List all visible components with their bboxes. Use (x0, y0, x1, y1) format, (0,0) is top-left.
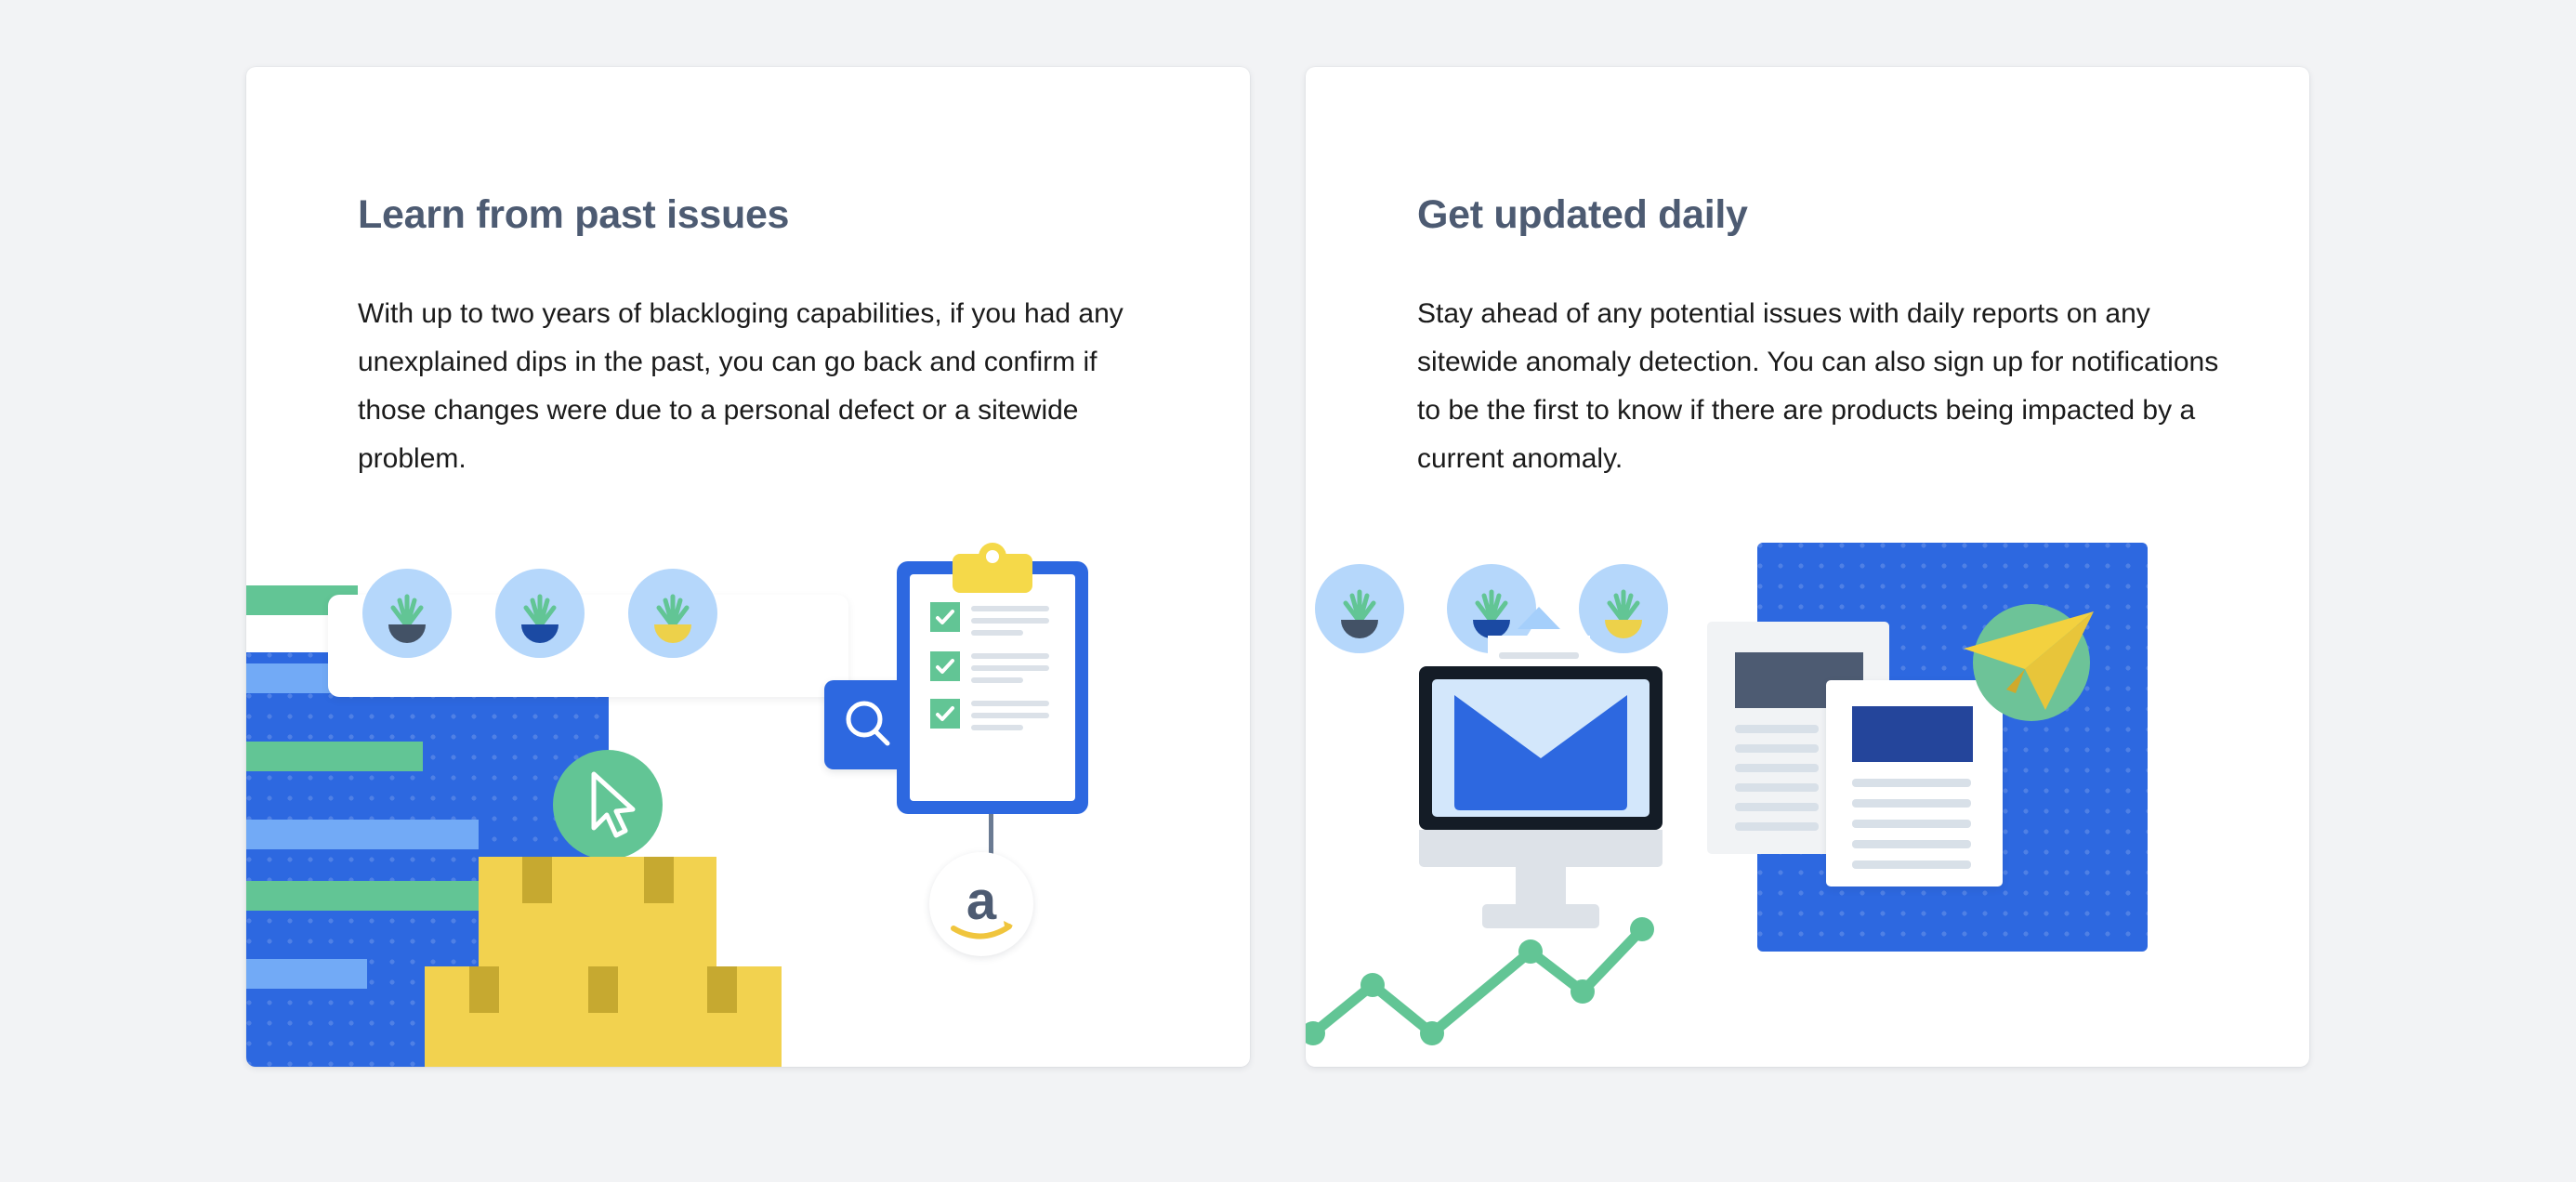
line-chart-marker (1630, 917, 1654, 941)
text-line (971, 677, 1023, 683)
text-line (971, 630, 1023, 636)
bar-chart-bar (246, 959, 367, 989)
page-title: Learn from past issues (358, 192, 789, 238)
box-tape (588, 966, 618, 1013)
box-tape (469, 966, 499, 1013)
text-line (1735, 822, 1819, 831)
text-line (1735, 725, 1819, 733)
plant-icon (1579, 564, 1668, 653)
plant-icon (628, 569, 717, 658)
text-line (971, 618, 1049, 624)
bar-chart-bar (246, 742, 423, 771)
plant-icon (362, 569, 452, 658)
check-icon (930, 651, 960, 681)
text-line (971, 606, 1049, 611)
text-line (971, 725, 1023, 730)
card-body-text: Stay ahead of any potential issues with … (1417, 290, 2226, 483)
plant-avatar[interactable] (495, 569, 585, 658)
checkbox-checked[interactable] (930, 699, 960, 729)
checkbox-checked[interactable] (930, 602, 960, 632)
plant-avatar[interactable] (362, 569, 452, 658)
text-line (1852, 799, 1971, 808)
feature-card-learn-from-past-issues[interactable]: Learn from past issues With up to two ye… (246, 67, 1250, 1067)
paper-plane-icon (1956, 595, 2114, 725)
text-line (971, 653, 1049, 659)
check-icon (930, 602, 960, 632)
amazon-logo-badge: a (929, 852, 1033, 956)
plant-avatar[interactable] (1315, 564, 1404, 653)
text-line (971, 713, 1049, 718)
text-line (1735, 744, 1819, 753)
clipboard-clip-hole (986, 550, 999, 563)
text-line (1852, 820, 1971, 828)
cursor-badge (553, 750, 663, 860)
plant-icon (495, 569, 585, 658)
plant-avatar[interactable] (1579, 564, 1668, 653)
clipboard-checklist (897, 561, 1088, 814)
text-line (1852, 840, 1971, 848)
plant-avatar[interactable] (628, 569, 717, 658)
text-line (1735, 783, 1819, 792)
line-chart (1306, 894, 1696, 1067)
line-chart-marker (1518, 939, 1543, 964)
line-chart-marker (1571, 979, 1595, 1004)
envelope-icon (1454, 695, 1627, 814)
past-issues-illustration: a (246, 550, 1250, 1067)
text-line (1735, 764, 1819, 772)
check-icon (930, 699, 960, 729)
box-tape (644, 857, 674, 903)
cursor-icon (553, 750, 663, 860)
monitor-base (1419, 830, 1663, 867)
checkbox-checked[interactable] (930, 651, 960, 681)
feature-card-get-updated-daily[interactable]: Get updated daily Stay ahead of any pote… (1306, 67, 2309, 1067)
card-body-text: With up to two years of blackloging capa… (358, 290, 1152, 483)
page-title: Get updated daily (1417, 192, 1748, 238)
document-header-block (1852, 706, 1973, 762)
text-line (971, 701, 1049, 706)
text-line (971, 665, 1049, 671)
box-tape (707, 966, 737, 1013)
line-chart-marker (1420, 1021, 1444, 1045)
svg-text:a: a (966, 871, 997, 931)
amazon-logo-icon: a (929, 852, 1033, 956)
upload-arrow-icon (1488, 601, 1590, 638)
daily-updates-illustration (1306, 550, 2309, 1067)
text-line (1852, 860, 1971, 869)
text-line (1852, 779, 1971, 787)
text-line (1499, 652, 1579, 659)
bar-chart-bar (246, 820, 479, 849)
box-tape (522, 857, 552, 903)
text-line (1735, 803, 1819, 811)
plant-icon (1315, 564, 1404, 653)
clipboard-paper (910, 574, 1075, 801)
page-background: Learn from past issues With up to two ye… (0, 0, 2576, 1182)
line-chart-marker (1360, 973, 1385, 997)
